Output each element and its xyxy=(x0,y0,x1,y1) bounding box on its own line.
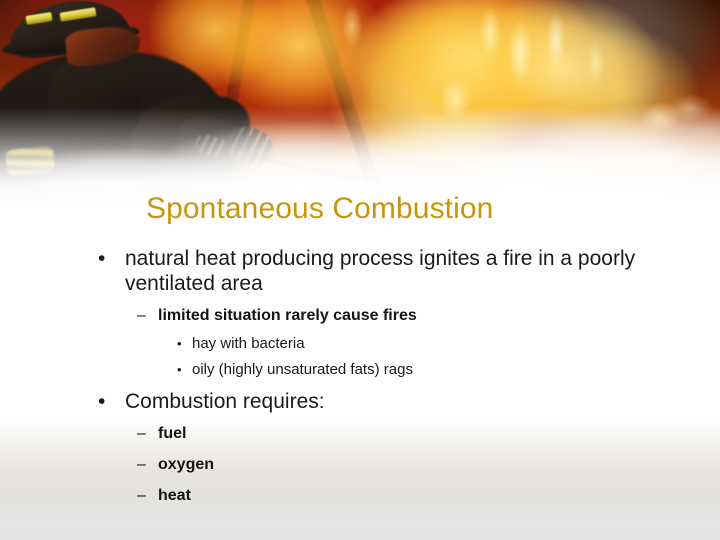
bullet-text: Combustion requires: xyxy=(125,390,325,413)
bullet-marker-icon: • xyxy=(98,389,105,414)
bullet-level2: – fuel xyxy=(92,424,672,444)
slide: Spontaneous Combustion • natural heat pr… xyxy=(0,0,720,540)
bullet-text: limited situation rarely cause fires xyxy=(158,307,417,324)
bullet-marker-icon: • xyxy=(98,246,105,271)
dash-marker-icon: – xyxy=(137,455,146,475)
bullet-text: fuel xyxy=(158,425,186,442)
bullet-text: hay with bacteria xyxy=(192,335,305,352)
bullet-level1: • natural heat producing process ignites… xyxy=(92,246,672,296)
bullet-text: natural heat producing process ignites a… xyxy=(125,247,635,295)
spacer xyxy=(92,446,672,455)
spacer xyxy=(92,477,672,486)
spacer xyxy=(92,380,672,389)
bullet-text: oxygen xyxy=(158,456,214,473)
photo-fade-overlay xyxy=(0,0,720,205)
bullet-marker-icon: • xyxy=(177,334,182,353)
bullet-level2: – heat xyxy=(92,486,672,506)
content-body: • natural heat producing process ignites… xyxy=(92,246,672,508)
bullet-level3: • oily (highly unsaturated fats) rags xyxy=(92,360,672,379)
bullet-text: heat xyxy=(158,487,191,504)
bullet-level2: – oxygen xyxy=(92,455,672,475)
bullet-text: oily (highly unsaturated fats) rags xyxy=(192,361,413,378)
bullet-level1: • Combustion requires: xyxy=(92,389,672,414)
dash-marker-icon: – xyxy=(137,486,146,506)
firefighter-in-flames-photo xyxy=(0,0,720,205)
bullet-level3: • hay with bacteria xyxy=(92,334,672,353)
bullet-marker-icon: • xyxy=(177,360,182,379)
page-title: Spontaneous Combustion xyxy=(146,192,493,226)
spacer xyxy=(92,298,672,306)
dash-marker-icon: – xyxy=(137,306,146,326)
spacer xyxy=(92,416,672,424)
bullet-level2: – limited situation rarely cause fires xyxy=(92,306,672,326)
dash-marker-icon: – xyxy=(137,424,146,444)
